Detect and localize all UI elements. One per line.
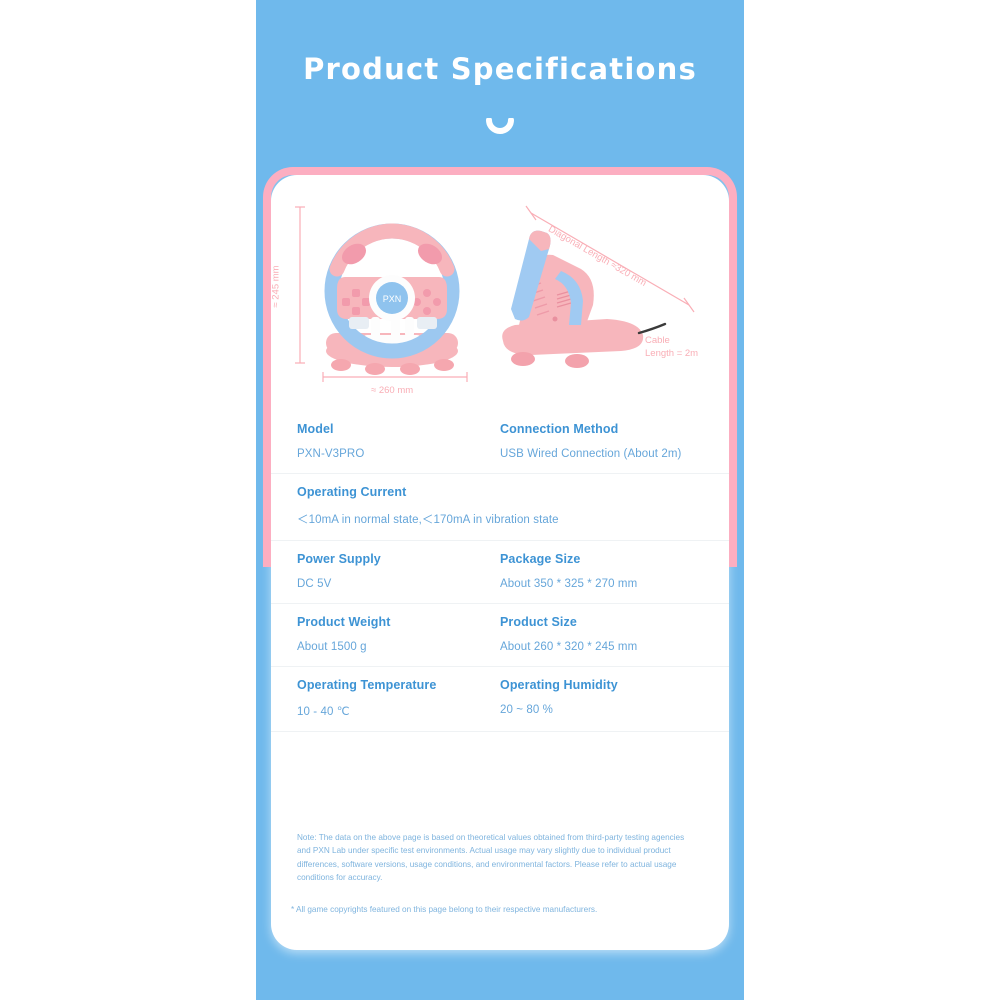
disclaimer-note: Note: The data on the above page is base… xyxy=(297,831,697,884)
spec-cell-operating-humidity: Operating Humidity 20 ~ 80 % xyxy=(500,678,703,718)
cable-length-label-line1: Cable xyxy=(645,335,670,346)
specification-table: Model PXN-V3PRO Connection Method USB Wi… xyxy=(271,411,729,732)
table-row: Operating Temperature 10 - 40 ℃ Operatin… xyxy=(271,667,729,732)
spec-cell-product-weight: Product Weight About 1500 g xyxy=(297,615,500,653)
page-title: Product Specifications xyxy=(256,52,744,86)
spec-value: USB Wired Connection (About 2m) xyxy=(500,448,703,460)
note-block: Note: The data on the above page is base… xyxy=(297,831,697,884)
spec-label: Operating Temperature xyxy=(297,678,500,692)
spec-label: Operating Current xyxy=(297,485,703,499)
spec-label: Connection Method xyxy=(500,422,703,436)
spec-value: 10 - 40 ℃ xyxy=(297,704,500,718)
spec-cell-product-size: Product Size About 260 * 320 * 245 mm xyxy=(500,615,703,653)
svg-text:PXN: PXN xyxy=(383,294,402,304)
spec-label: Model xyxy=(297,422,500,436)
spec-cell-package-size: Package Size About 350 * 325 * 270 mm xyxy=(500,552,703,590)
spec-value: 20 ~ 80 % xyxy=(500,704,703,716)
spec-value: DC 5V xyxy=(297,578,500,590)
spec-label: Package Size xyxy=(500,552,703,566)
title-block: Product Specifications xyxy=(256,52,744,86)
spec-label: Operating Humidity xyxy=(500,678,703,692)
table-row: Operating Current ＜10mA in normal state,… xyxy=(271,474,729,541)
spec-cell-model: Model PXN-V3PRO xyxy=(297,422,500,460)
table-row: Power Supply DC 5V Package Size About 35… xyxy=(271,541,729,604)
spec-value: PXN-V3PRO xyxy=(297,448,500,460)
product-visuals: PXN ≈ 245 mm ≈ 260 mm xyxy=(271,189,729,404)
width-dimension-line xyxy=(319,371,471,383)
table-row: Model PXN-V3PRO Connection Method USB Wi… xyxy=(271,411,729,474)
specification-card: PXN ≈ 245 mm ≈ 260 mm xyxy=(271,175,729,950)
spec-cell-operating-current: Operating Current ＜10mA in normal state,… xyxy=(297,485,703,527)
spec-value: About 350 * 325 * 270 mm xyxy=(500,578,703,590)
product-front-view: PXN xyxy=(297,199,487,389)
table-row: Product Weight About 1500 g Product Size… xyxy=(271,604,729,667)
spec-label: Power Supply xyxy=(297,552,500,566)
smile-arc-icon xyxy=(256,118,744,146)
spec-cell-connection-method: Connection Method USB Wired Connection (… xyxy=(500,422,703,460)
spec-label: Product Size xyxy=(500,615,703,629)
spec-value: About 1500 g xyxy=(297,641,500,653)
height-dimension-label: ≈ 245 mm xyxy=(271,265,282,307)
cable-length-label-line2: Length = 2m xyxy=(645,348,698,359)
spec-label: Product Weight xyxy=(297,615,500,629)
spec-value: ＜10mA in normal state,＜170mA in vibratio… xyxy=(297,511,703,527)
spec-cell-operating-temperature: Operating Temperature 10 - 40 ℃ xyxy=(297,678,500,718)
width-dimension-label: ≈ 260 mm xyxy=(371,385,413,396)
copyright-note: * All game copyrights featured on this p… xyxy=(291,905,711,914)
spec-value: About 260 * 320 * 245 mm xyxy=(500,641,703,653)
height-dimension-line xyxy=(293,203,307,371)
spec-cell-power-supply: Power Supply DC 5V xyxy=(297,552,500,590)
